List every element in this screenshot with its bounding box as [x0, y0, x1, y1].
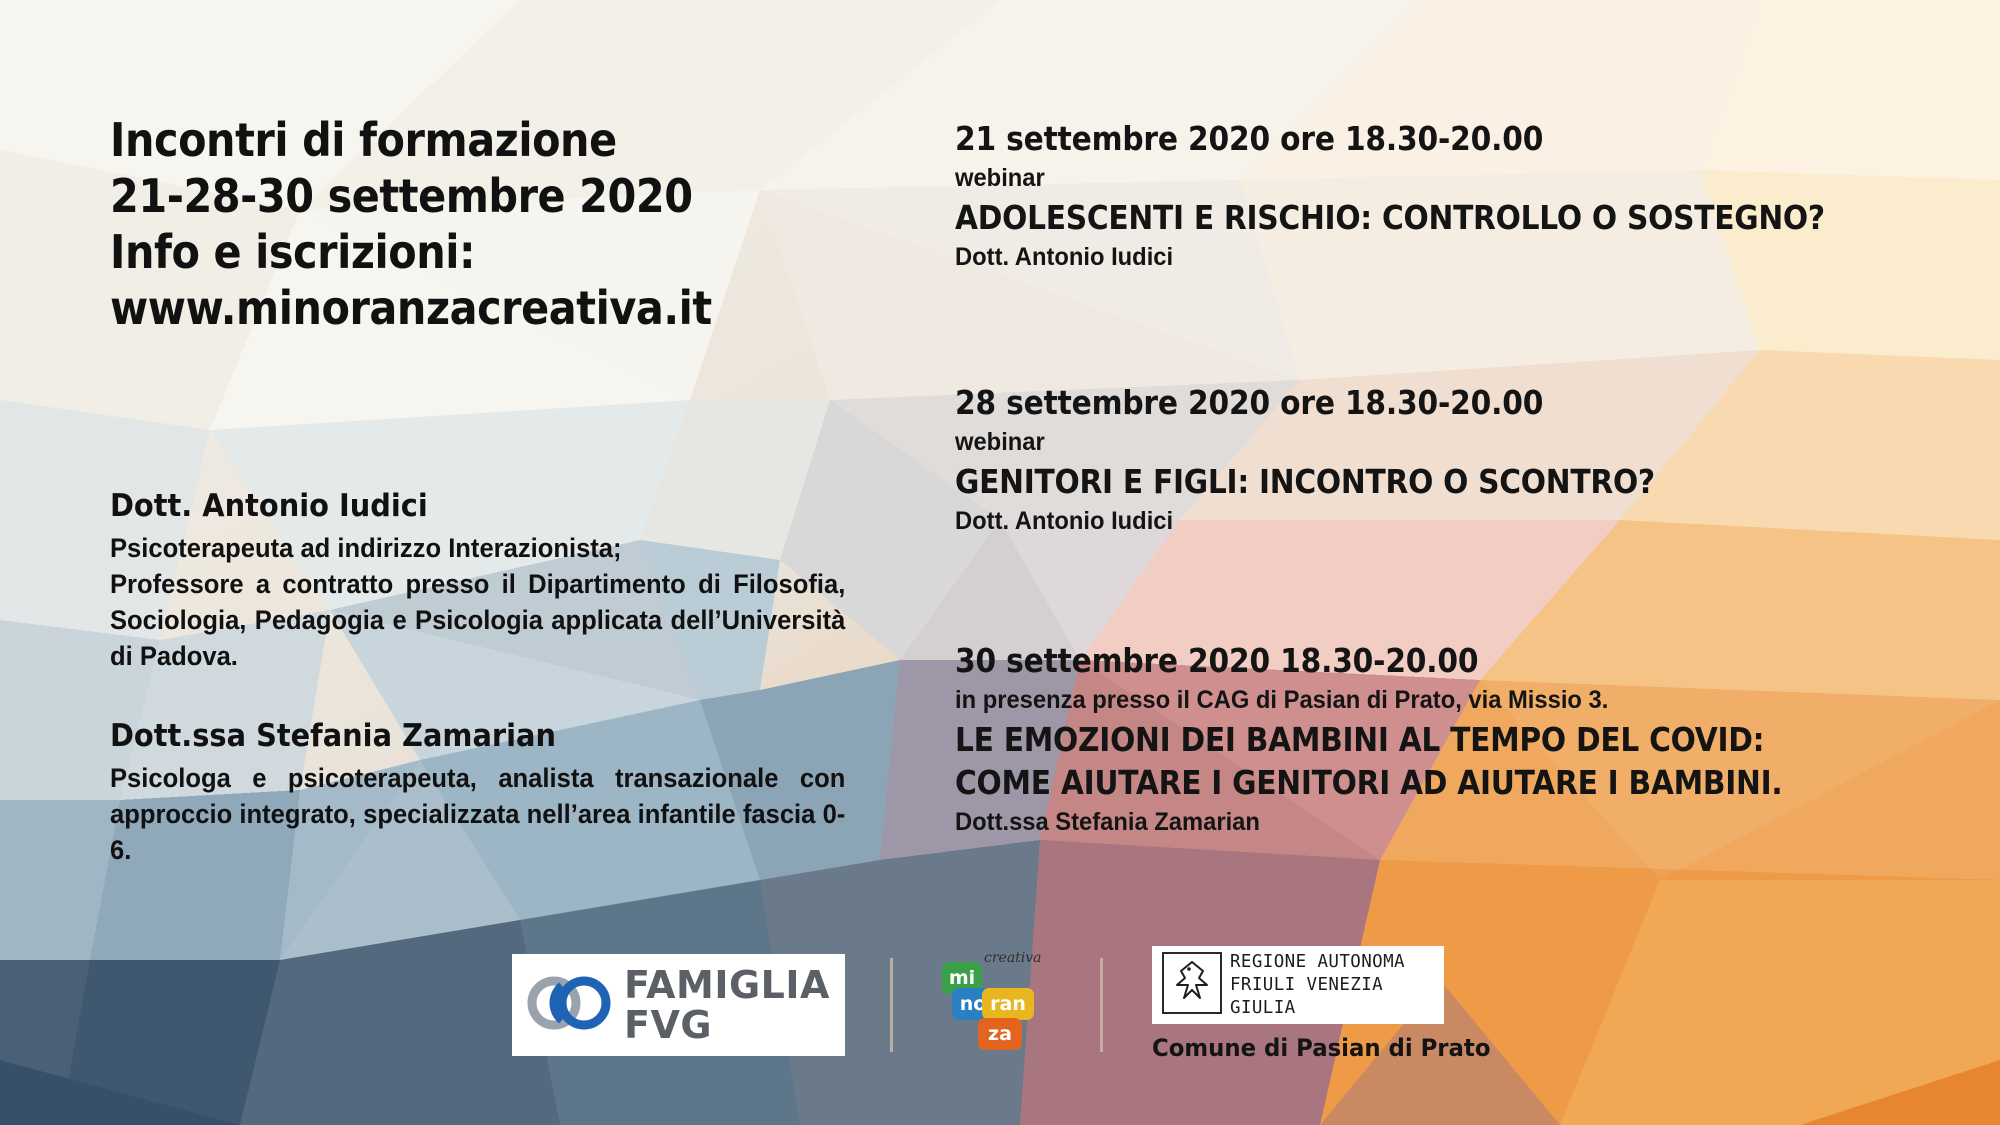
- website-url[interactable]: www.minoranzacreativa.it: [110, 280, 794, 336]
- event-item-1: 21 settembre 2020 ore 18.30-20.00 webina…: [955, 118, 1915, 276]
- eagle-crest-icon: [1162, 952, 1222, 1019]
- bio-line: Psicoterapeuta ad indirizzo Interazionis…: [110, 530, 845, 566]
- event-speaker: Dott. Antonio Iudici: [955, 503, 1867, 540]
- logo-divider: [1100, 958, 1103, 1052]
- event-title-line2: COME AIUTARE I GENITORI AD AIUTARE I BAM…: [955, 761, 1819, 804]
- bio-name: Dott. Antonio Iudici: [110, 486, 817, 526]
- headline-line-2: 21-28-30 settembre 2020: [110, 168, 794, 224]
- regione-line-1: REGIONE AUTONOMA: [1230, 952, 1405, 972]
- event-title: ADOLESCENTI E RISCHIO: CONTROLLO O SOSTE…: [955, 196, 1819, 239]
- event-title: LE EMOZIONI DEI BAMBINI AL TEMPO DEL COV…: [955, 718, 1819, 761]
- famiglia-label: FAMIGLIA: [624, 966, 830, 1004]
- regione-line-2: FRIULI VENEZIA GIULIA: [1230, 975, 1383, 1018]
- logo-row: FAMIGLIA FVG mi creativa no ran za: [0, 940, 2000, 1115]
- creativa-script-label: creativa: [984, 950, 1042, 966]
- headline-line-1: Incontri di formazione: [110, 112, 794, 168]
- bio-line: Psicologa e psicoterapeuta, analista tra…: [110, 760, 845, 868]
- event-location: in presenza presso il CAG di Pasian di P…: [955, 682, 1867, 718]
- infinity-rings-icon: [524, 968, 616, 1043]
- bio-line: Professore a contratto presso il Diparti…: [110, 566, 845, 674]
- comune-label: Comune di Pasian di Prato: [1152, 1034, 1466, 1062]
- poster-canvas: Incontri di formazione 21-28-30 settembr…: [0, 0, 2000, 1125]
- event-mode: webinar: [955, 424, 1867, 460]
- spacer: [955, 540, 1915, 640]
- minoranza-cell-ran: ran: [982, 988, 1034, 1020]
- minoranza-creativa-logo: mi creativa no ran za: [938, 944, 1062, 1072]
- famiglia-fvg-logo: FAMIGLIA FVG: [512, 954, 845, 1056]
- spacer: [955, 276, 1915, 382]
- minoranza-cell-za: za: [978, 1018, 1022, 1050]
- event-speaker: Dott. Antonio Iudici: [955, 239, 1867, 276]
- bio-name: Dott.ssa Stefania Zamarian: [110, 716, 817, 756]
- event-title: GENITORI E FIGLI: INCONTRO O SCONTRO?: [955, 460, 1819, 503]
- event-date: 21 settembre 2020 ore 18.30-20.00: [955, 118, 1819, 160]
- speaker-bios: Dott. Antonio Iudici Psicoterapeuta ad i…: [110, 486, 870, 868]
- fvg-label: FVG: [624, 1006, 830, 1044]
- event-item-2: 28 settembre 2020 ore 18.30-20.00 webina…: [955, 382, 1915, 540]
- bio-antonio-iudici: Dott. Antonio Iudici Psicoterapeuta ad i…: [110, 486, 870, 674]
- event-date: 28 settembre 2020 ore 18.30-20.00: [955, 382, 1819, 424]
- events-list: 21 settembre 2020 ore 18.30-20.00 webina…: [955, 118, 1915, 841]
- logo-divider: [890, 958, 893, 1052]
- event-date: 30 settembre 2020 18.30-20.00: [955, 640, 1819, 682]
- bio-stefania-zamarian: Dott.ssa Stefania Zamarian Psicologa e p…: [110, 716, 870, 868]
- event-item-3: 30 settembre 2020 18.30-20.00 in presenz…: [955, 640, 1915, 841]
- headline-block: Incontri di formazione 21-28-30 settembr…: [110, 112, 870, 336]
- headline-line-3: Info e iscrizioni:: [110, 224, 794, 280]
- regione-fvg-logo: REGIONE AUTONOMA FRIULI VENEZIA GIULIA: [1152, 946, 1444, 1024]
- event-mode: webinar: [955, 160, 1867, 196]
- event-speaker: Dott.ssa Stefania Zamarian: [955, 804, 1867, 841]
